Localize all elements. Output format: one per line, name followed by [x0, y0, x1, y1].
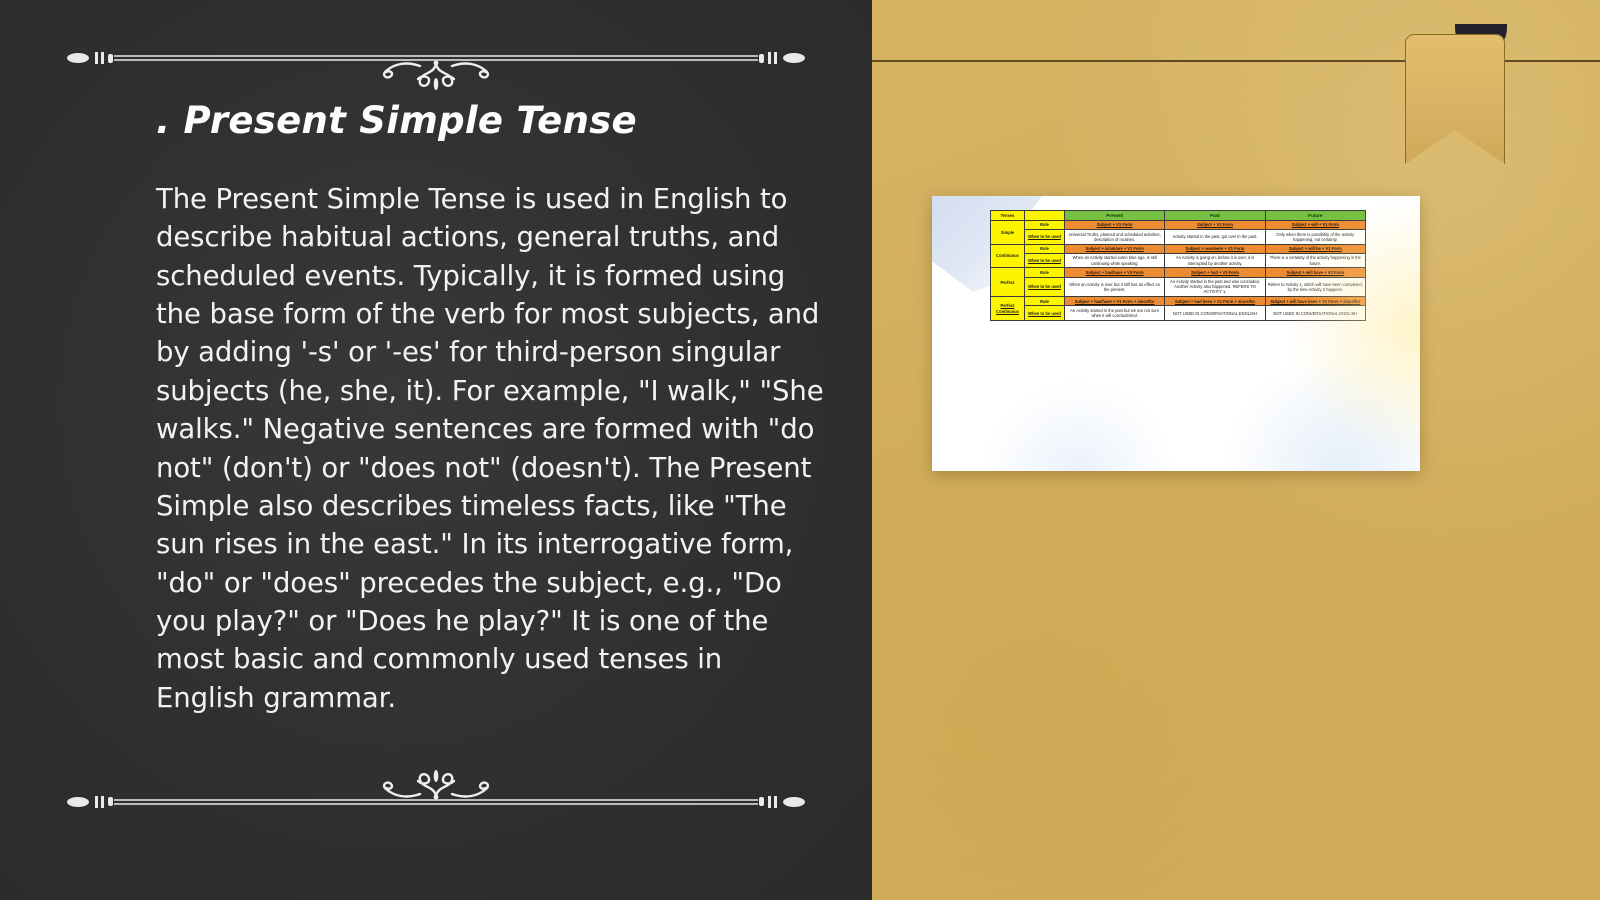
cell-past: Subject + was/were + V1 Form [1165, 244, 1265, 253]
table-body: Simple Rule Subject + V1 Form Subject + … [991, 220, 1366, 320]
cell-present: When an Activity started some time ago, … [1065, 253, 1165, 267]
table-row: When to be used When an Activity started… [991, 253, 1366, 267]
table-row: Perfect Continuous Rule Subject + has/ha… [991, 297, 1366, 306]
cell-subheading: Rule [1025, 297, 1065, 306]
th-tenses: Tenses [991, 211, 1025, 221]
cell-future: Subject + will have + V3 Form [1265, 268, 1365, 277]
table-row: When to be used When an Activity is over… [991, 277, 1366, 297]
cell-subheading: When to be used [1025, 230, 1065, 244]
cell-past: Subject + had + V3 Form [1165, 268, 1265, 277]
table-header-row: Tenses Present Past Future [991, 211, 1366, 221]
slide-root: . Present Simple Tense The Present Simpl… [0, 0, 1600, 900]
cell-present: Universal Truths, planned and scheduled … [1065, 230, 1165, 244]
cell-tense-name: Simple [991, 220, 1025, 244]
ribbon-shape [1405, 34, 1505, 164]
cell-future: There is a certainty of the activity hap… [1265, 253, 1365, 267]
cell-future: Refers to Activity 1, which will have be… [1265, 277, 1365, 297]
cell-present: Subject + has/have + V1 Form + since/for [1065, 297, 1165, 306]
cell-past: Subject + had been + V1 Form + since/for [1165, 297, 1265, 306]
cell-present: Subject + has/have + V3 Form [1065, 268, 1165, 277]
cell-present: An Activity started in the past but we a… [1065, 306, 1165, 320]
cell-subheading: Rule [1025, 244, 1065, 253]
cell-tense-name: Continuous [991, 244, 1025, 268]
cell-future: Only when there is possibility of the ac… [1265, 230, 1365, 244]
th-future: Future [1265, 211, 1365, 221]
th-present: Present [1065, 211, 1165, 221]
cell-past: An Activity is going on, before it is ov… [1165, 253, 1265, 267]
table-header: Tenses Present Past Future [991, 211, 1366, 221]
cell-subheading: When to be used [1025, 253, 1065, 267]
bookmark-ribbon [1405, 24, 1505, 164]
cell-tense-name: Perfect Continuous [991, 297, 1025, 321]
table-row: When to be used Universal Truths, planne… [991, 230, 1366, 244]
tenses-table: Tenses Present Past Future Simple Rule S… [990, 210, 1366, 321]
cell-past: An Activity started in the past and was … [1165, 277, 1265, 297]
table-row: Simple Rule Subject + V1 Form Subject + … [991, 220, 1366, 229]
cell-subheading: When to be used [1025, 277, 1065, 297]
table-row: Perfect Rule Subject + has/have + V3 For… [991, 268, 1366, 277]
cell-past: Activity started in the past, got over i… [1165, 230, 1265, 244]
th-past: Past [1165, 211, 1265, 221]
cell-future: Subject + will be + V1 Form [1265, 244, 1365, 253]
cell-subheading: Rule [1025, 220, 1065, 229]
cell-past: Subject + V2 Form [1165, 220, 1265, 229]
ornate-divider-top-icon [64, 40, 808, 92]
cell-future: NOT USED IN CONVERSATIONAL ENGLISH [1265, 306, 1365, 320]
cell-present: When an Activity is over but it still ha… [1065, 277, 1165, 297]
cell-present: Subject + V1 Form [1065, 220, 1165, 229]
body-paragraph: The Present Simple Tense is used in Engl… [156, 180, 828, 717]
cell-present: Subject + is/am/are + V1 Form [1065, 244, 1165, 253]
ornate-divider-bottom-icon [64, 768, 808, 820]
cell-future: Subject + will have been + V1 Form + sin… [1265, 297, 1365, 306]
table-row: When to be used An Activity started in t… [991, 306, 1366, 320]
tenses-table-image-card[interactable]: Tenses Present Past Future Simple Rule S… [932, 196, 1420, 471]
table-row: Continuous Rule Subject + is/am/are + V1… [991, 244, 1366, 253]
cell-subheading: Rule [1025, 268, 1065, 277]
cell-subheading: When to be used [1025, 306, 1065, 320]
cell-past: NOT USED IN CONVERSATIONAL ENGLISH [1165, 306, 1265, 320]
cell-future: Subject + will + V1 Form [1265, 220, 1365, 229]
cell-tense-name: Perfect [991, 268, 1025, 297]
page-title: . Present Simple Tense [156, 100, 836, 143]
th-blank [1025, 211, 1065, 221]
